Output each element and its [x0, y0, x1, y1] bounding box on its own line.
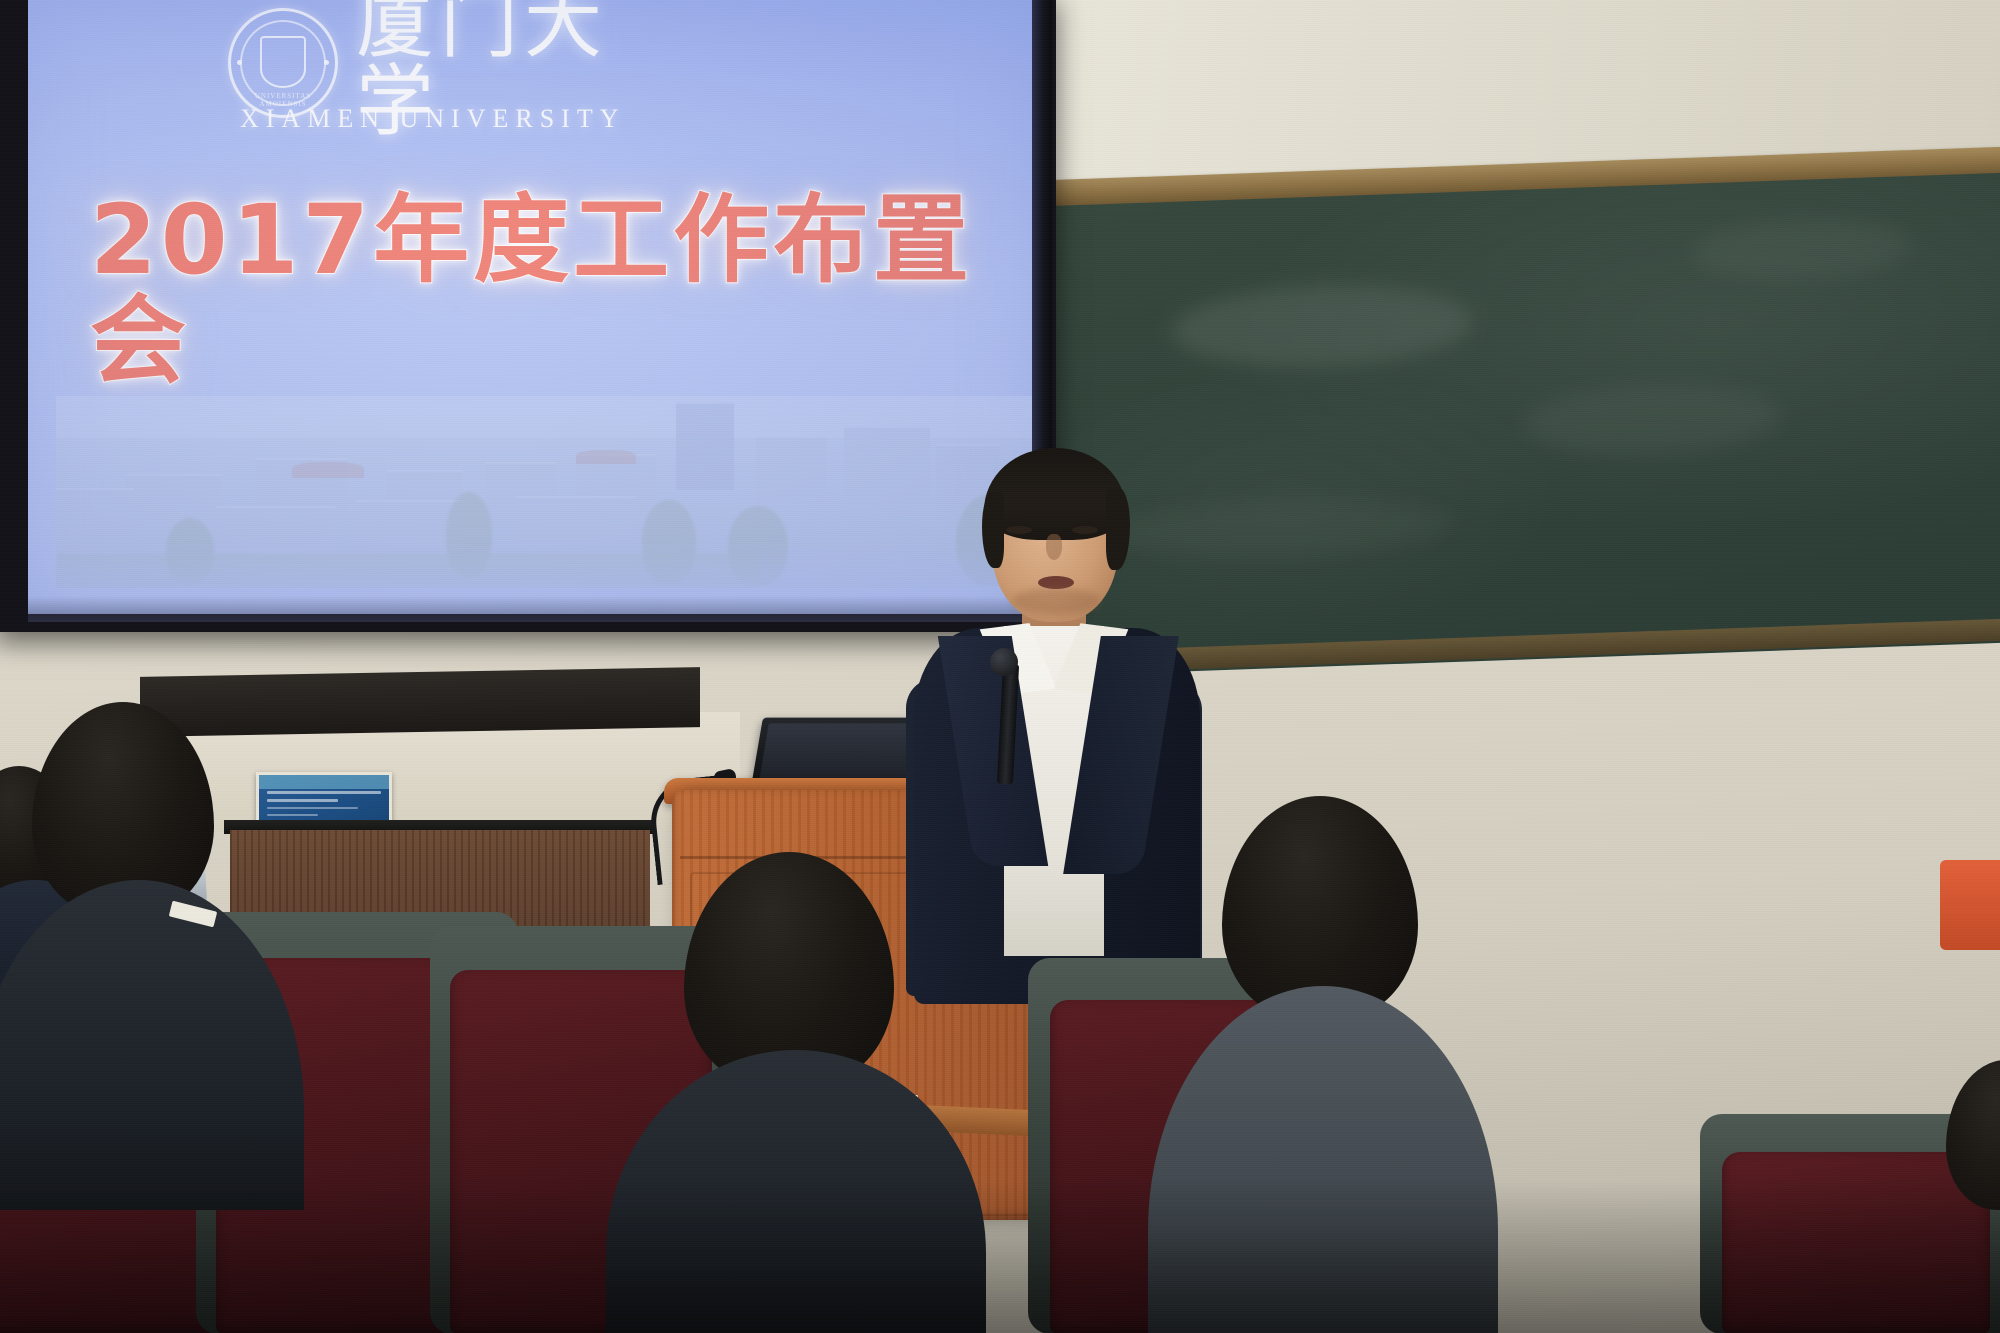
- speaker-nose: [1046, 534, 1062, 560]
- speaker-eye-left: [1006, 526, 1032, 534]
- projection-screen[interactable]: UNIVERSITAS AMOIENSIS 厦门大学 XIAMEN UNIVER…: [28, 0, 1032, 614]
- slide-campus-photo: [56, 396, 1032, 588]
- poster-header-band: [259, 775, 389, 789]
- presentation-photo-scene: UNIVERSITAS AMOIENSIS 厦门大学 XIAMEN UNIVER…: [0, 0, 2000, 1333]
- speaker-eye-right: [1072, 526, 1098, 534]
- stand-microphone-head-icon: [990, 648, 1018, 676]
- slide-logo-english-name: XIAMEN UNIVERSITY: [240, 104, 625, 134]
- chalk-smudge: [1172, 281, 1472, 371]
- campus-photo-overlay: [56, 396, 1032, 588]
- seal-dot-icon: [237, 60, 242, 65]
- seal-dot-icon: [324, 60, 329, 65]
- speaker-hair-right-side: [1106, 488, 1130, 570]
- speaker-chin-shadow: [1012, 588, 1100, 614]
- xiamen-university-seal-icon: UNIVERSITAS AMOIENSIS: [228, 8, 338, 118]
- seal-shield-icon: [260, 36, 306, 88]
- orange-object: [1940, 860, 2000, 950]
- chalk-smudge: [1692, 216, 1912, 284]
- chalk-smudge: [1522, 381, 1782, 460]
- back-counter: [140, 667, 700, 737]
- speaker-hair-left-side: [982, 492, 1004, 568]
- slide-title: 2017年度工作布置会: [90, 190, 1032, 392]
- poster-text-lines: [267, 791, 381, 821]
- auditorium-seat: [1722, 1152, 1990, 1333]
- speaker-person: [900, 430, 1200, 990]
- speaker-hair: [984, 448, 1126, 540]
- screen-bottom-shadow: [28, 596, 1032, 622]
